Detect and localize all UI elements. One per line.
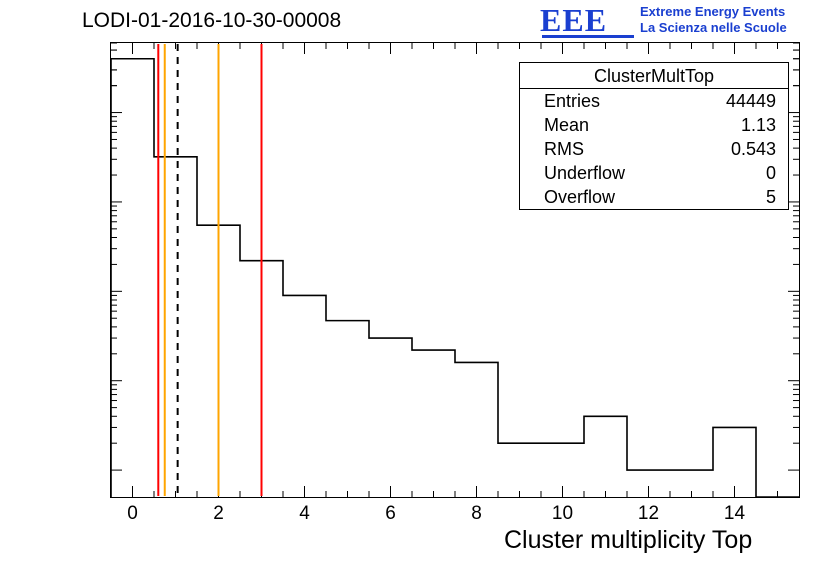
stats-row: Mean 1.13	[520, 113, 788, 137]
x-tick-label: 10	[543, 503, 583, 525]
stats-row: RMS 0.543	[520, 137, 788, 161]
x-tick-label: 14	[715, 503, 755, 525]
stats-box-title: ClusterMultTop	[520, 63, 788, 89]
stats-box: ClusterMultTop Entries 44449 Mean 1.13 R…	[519, 62, 789, 210]
x-tick-label: 4	[285, 503, 325, 525]
stats-value: 44449	[726, 89, 776, 113]
x-tick-label: 8	[457, 503, 497, 525]
stats-key: Mean	[544, 113, 589, 137]
stats-row: Underflow 0	[520, 161, 788, 185]
stats-value: 0.543	[731, 137, 776, 161]
stats-row: Overflow 5	[520, 185, 788, 209]
x-axis-title: Cluster multiplicity Top	[504, 526, 752, 555]
x-tick-label: 2	[199, 503, 239, 525]
x-tick-label: 6	[371, 503, 411, 525]
stats-row: Entries 44449	[520, 89, 788, 113]
stats-key: Entries	[544, 89, 600, 113]
stats-value: 0	[766, 161, 776, 185]
marker-lines	[158, 44, 261, 496]
stats-value: 5	[766, 185, 776, 209]
stats-key: Underflow	[544, 161, 625, 185]
stats-key: RMS	[544, 137, 584, 161]
chart-canvas: LODI-01-2016-10-30-00008 EEE Extreme Ene…	[0, 0, 836, 572]
stats-value: 1.13	[741, 113, 776, 137]
x-tick-label: 0	[113, 503, 153, 525]
stats-key: Overflow	[544, 185, 615, 209]
x-tick-label: 12	[629, 503, 669, 525]
